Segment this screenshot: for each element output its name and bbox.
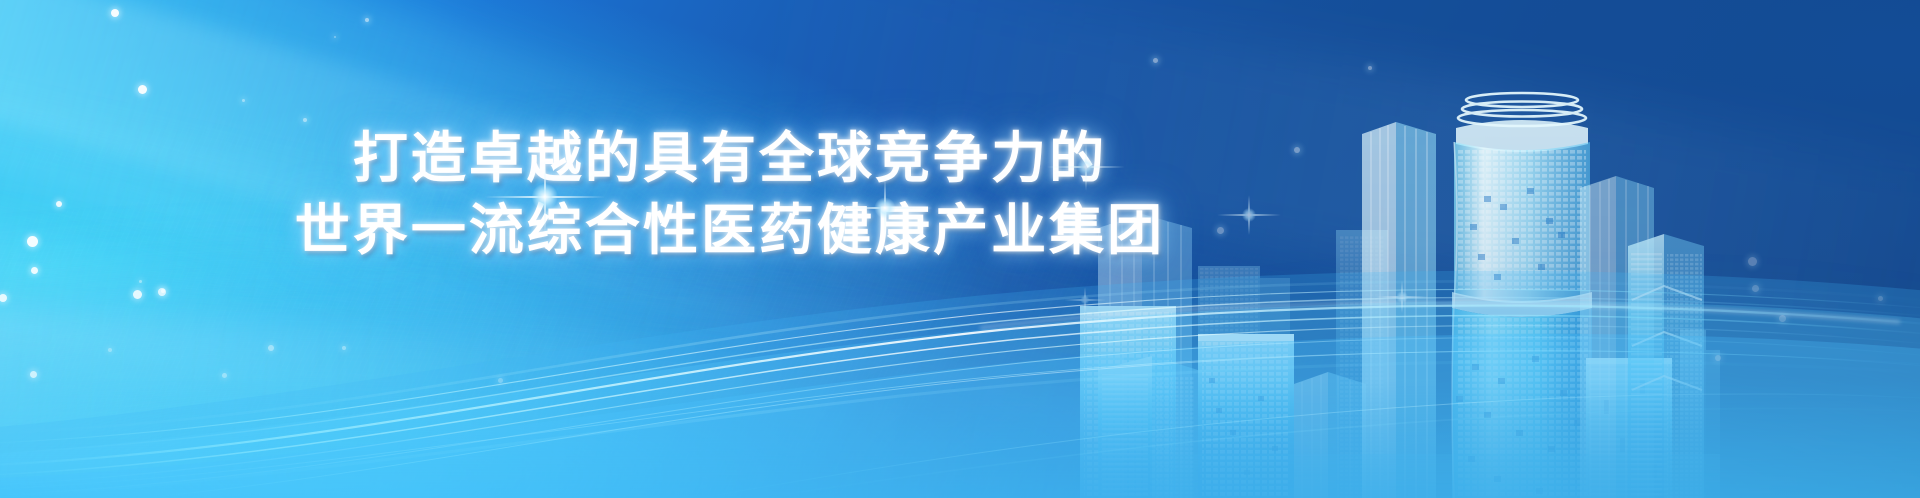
particle-dot — [1752, 285, 1759, 292]
particle-dot — [222, 373, 227, 378]
light-ribbon-3 — [0, 40, 1525, 498]
particle-dot — [158, 288, 166, 296]
particle-dot — [133, 290, 142, 299]
particle-dot — [365, 18, 369, 22]
particle-dot — [242, 99, 245, 102]
page-title: 打造卓越的具有全球竞争力的 世界一流综合性医药健康产业集团 — [0, 123, 1460, 267]
particle-dot — [498, 378, 503, 383]
particle-dot — [1878, 296, 1883, 301]
particle-dot — [1715, 355, 1721, 361]
particle-dot — [1748, 257, 1757, 266]
particle-dot — [138, 85, 147, 94]
particle-dot — [1779, 315, 1786, 322]
light-ribbon-5 — [0, 300, 1298, 498]
particle-dot — [334, 36, 337, 39]
particle-dot — [1368, 66, 1372, 70]
particle-dot — [161, 289, 165, 293]
headline-line-2: 世界一流综合性医药健康产业集团 — [0, 193, 1460, 267]
wave-glow-right — [840, 298, 1920, 498]
particle-dot — [30, 371, 37, 378]
particle-dot — [342, 346, 346, 350]
particle-dot — [108, 348, 112, 352]
particle-dot — [139, 280, 142, 283]
particle-dot — [111, 9, 119, 17]
bottom-sheen — [0, 378, 1920, 498]
particle-dot — [31, 267, 38, 274]
hero-banner: 打造卓越的具有全球竞争力的 世界一流综合性医药健康产业集团 — [0, 0, 1920, 498]
wave-glow-left — [0, 238, 1400, 498]
particle-dot — [0, 294, 7, 302]
particle-dot — [303, 118, 307, 122]
particle-dot — [268, 345, 274, 351]
particle-dot — [1153, 58, 1158, 63]
headline-line-1: 打造卓越的具有全球竞争力的 — [0, 123, 1460, 193]
